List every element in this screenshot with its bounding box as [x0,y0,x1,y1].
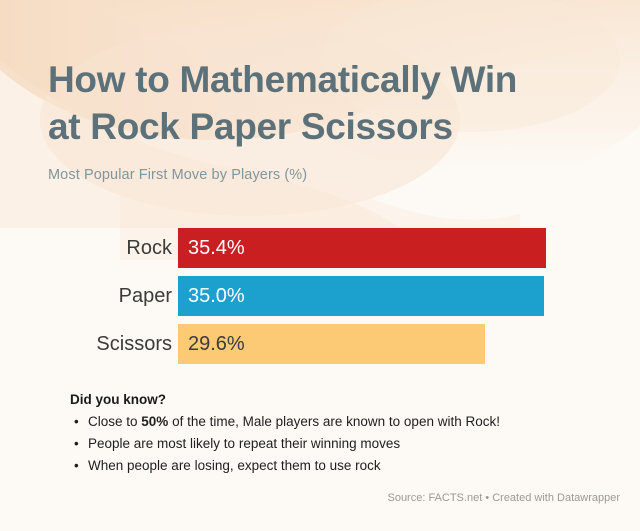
bar-track-scissors: 29.6% [178,324,640,364]
bar-row: Rock 35.4% [0,228,640,268]
bar-value-rock: 35.4% [188,228,245,268]
page-title: How to Mathematically Win at Rock Paper … [48,56,608,151]
bar-row: Scissors 29.6% [0,324,640,364]
note-text-strong: 50% [141,414,168,429]
note-text-prefix: Close to [88,414,141,429]
list-item: • Close to 50% of the time, Male players… [88,412,590,432]
bar-category-label-paper: Paper [0,276,172,316]
list-item: • When people are losing, expect them to… [88,456,590,476]
notes-list: • Close to 50% of the time, Male players… [70,412,590,476]
note-text-prefix: When people are losing, expect them to u… [88,458,381,473]
bar-category-label-scissors: Scissors [0,324,172,364]
list-item: • People are most likely to repeat their… [88,434,590,454]
bar-chart: Rock 35.4% Paper 35.0% Scissors 29.6% [0,228,640,372]
page-subtitle: Most Popular First Move by Players (%) [48,167,608,183]
bullet-icon: • [74,456,79,476]
bar-value-paper: 35.0% [188,276,245,316]
note-text-prefix: People are most likely to repeat their w… [88,436,400,451]
bullet-icon: • [74,434,79,454]
bar-track-rock: 35.4% [178,228,640,268]
bar-row: Paper 35.0% [0,276,640,316]
did-you-know-section: Did you know? • Close to 50% of the time… [70,392,590,478]
bar-track-paper: 35.0% [178,276,640,316]
bar-category-label-rock: Rock [0,228,172,268]
bar-value-scissors: 29.6% [188,324,245,364]
bullet-icon: • [74,412,79,432]
infographic-canvas: How to Mathematically Win at Rock Paper … [0,0,640,531]
header: How to Mathematically Win at Rock Paper … [48,56,608,183]
notes-heading: Did you know? [70,392,590,407]
source-footer: Source: FACTS.net • Created with Datawra… [387,492,620,504]
note-text-suffix: of the time, Male players are known to o… [168,414,500,429]
